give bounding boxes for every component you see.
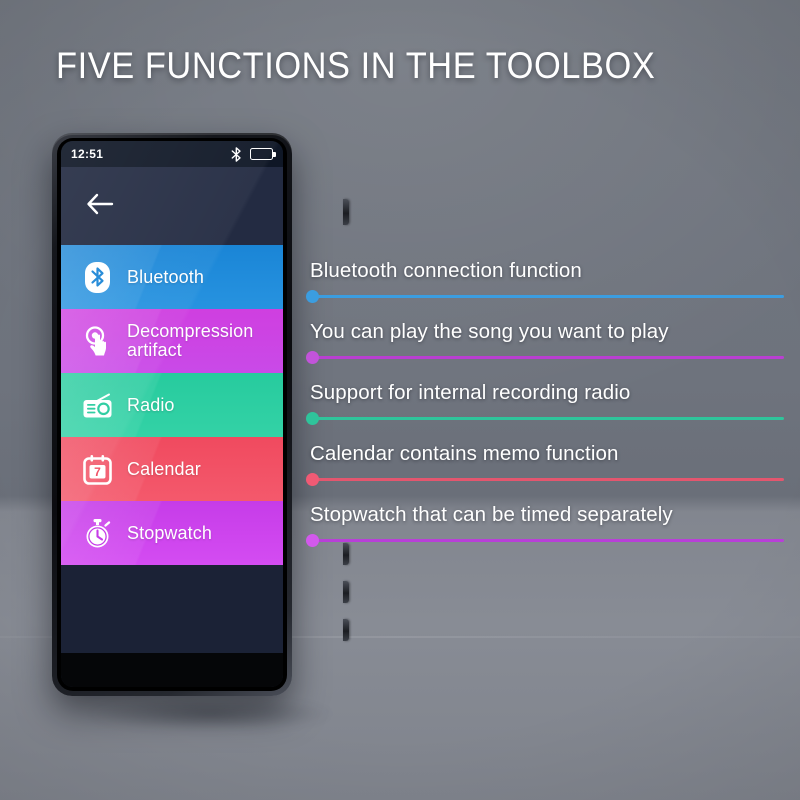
feature-rule — [306, 534, 784, 546]
bluetooth-icon — [231, 147, 242, 162]
feature-rule-line — [312, 478, 784, 481]
screen-body: Bluetooth Decompression artifact — [61, 167, 283, 687]
menu-item-label: Stopwatch — [127, 523, 212, 543]
menu-item-label: Decompression artifact — [127, 322, 283, 360]
feature-rule-line — [312, 295, 784, 298]
status-icons — [231, 147, 273, 162]
feature-rule-dot — [306, 351, 319, 364]
phone-device: 12:51 — [52, 133, 292, 696]
phone-screen: 12:51 — [61, 141, 283, 687]
feature-rule-line — [312, 356, 784, 359]
stopwatch-icon — [81, 517, 114, 550]
side-button-volume-down[interactable] — [343, 581, 349, 603]
feature-rule-dot — [306, 290, 319, 303]
side-button-power[interactable] — [343, 199, 349, 225]
feature-list: Bluetooth connection function You can pl… — [306, 258, 784, 563]
battery-icon — [250, 148, 273, 160]
phone-drop-shadow — [40, 690, 380, 738]
menu-item-label: Radio — [127, 395, 175, 415]
feature-rule — [306, 412, 784, 424]
menu-item-stopwatch[interactable]: Stopwatch — [61, 501, 283, 565]
feature-text: Support for internal recording radio — [306, 380, 784, 406]
radio-icon — [81, 389, 114, 422]
feature-text: Bluetooth connection function — [306, 258, 784, 284]
calendar-icon: 7 — [81, 453, 114, 486]
feature-item: Stopwatch that can be timed separately — [306, 502, 784, 546]
screen-empty-area — [61, 565, 283, 653]
phone-bezel: 12:51 — [57, 138, 287, 691]
screen-bottom-bezel — [61, 653, 283, 687]
calendar-day-number: 7 — [94, 465, 101, 479]
app-nav-bar — [61, 167, 283, 245]
feature-item: Support for internal recording radio — [306, 380, 784, 424]
feature-item: Calendar contains memo function — [306, 441, 784, 485]
menu-item-bluetooth[interactable]: Bluetooth — [61, 245, 283, 309]
bluetooth-icon — [81, 261, 114, 294]
feature-rule-line — [312, 417, 784, 420]
back-arrow-icon[interactable] — [85, 191, 115, 217]
menu-item-radio[interactable]: Radio — [61, 373, 283, 437]
status-clock: 12:51 — [71, 147, 103, 161]
status-bar: 12:51 — [61, 141, 283, 167]
feature-rule-line — [312, 539, 784, 542]
menu-item-decompression-artifact[interactable]: Decompression artifact — [61, 309, 283, 373]
feature-rule — [306, 473, 784, 485]
side-button-extra[interactable] — [343, 619, 349, 641]
feature-item: Bluetooth connection function — [306, 258, 784, 302]
menu-item-label: Calendar — [127, 459, 201, 479]
feature-text: You can play the song you want to play — [306, 319, 784, 345]
feature-text: Calendar contains memo function — [306, 441, 784, 467]
feature-text: Stopwatch that can be timed separately — [306, 502, 784, 528]
tap-hand-icon — [81, 325, 114, 358]
feature-rule-dot — [306, 412, 319, 425]
feature-rule — [306, 351, 784, 363]
feature-item: You can play the song you want to play — [306, 319, 784, 363]
menu-item-calendar[interactable]: 7 Calendar — [61, 437, 283, 501]
page-title: FIVE FUNCTIONS IN THE TOOLBOX — [56, 44, 707, 88]
feature-rule — [306, 290, 784, 302]
menu-item-label: Bluetooth — [127, 267, 204, 287]
feature-rule-dot — [306, 473, 319, 486]
feature-rule-dot — [306, 534, 319, 547]
